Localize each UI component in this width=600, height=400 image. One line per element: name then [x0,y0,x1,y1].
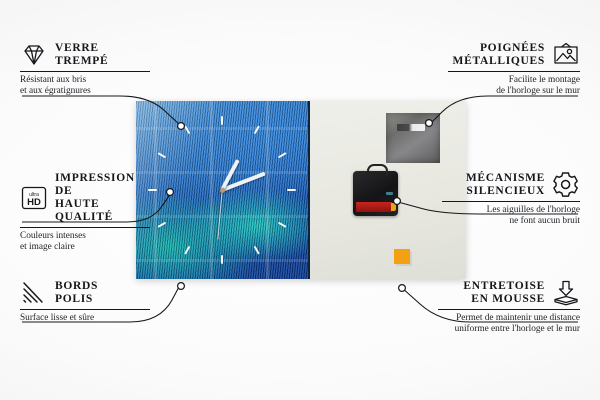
feature-divider [20,227,150,228]
hanging-frame-icon [552,42,580,68]
feature-callout-verre-trempe: VERRE TREMPÉ Résistant aux bris et aux é… [20,42,150,97]
feature-subtitle: Facilite le montage de l'horloge sur le … [448,75,580,97]
ultra-hd-icon: ultra HD [20,185,48,211]
feature-subtitle: Résistant aux bris et aux égratignures [20,75,150,97]
feature-head: BORDS POLIS [20,280,150,306]
clock-tick [221,255,223,264]
feature-head: MÉCANISME SILENCIEUX [442,172,580,198]
clock-tick [221,116,223,125]
feature-head: ENTRETOISE EN MOUSSE [438,280,580,306]
mechanism-loop [367,164,388,176]
feature-divider [20,309,150,310]
infographic-stage: VERRE TREMPÉ Résistant aux bris et aux é… [0,0,600,400]
feature-head: POIGNÉES MÉTALLIQUES [448,42,580,68]
feature-divider [442,201,580,202]
feature-title: ENTRETOISE EN MOUSSE [463,280,545,306]
clock-tick [287,189,296,191]
clock-front-panel [136,101,308,279]
feature-callout-entretoise: ENTRETOISE EN MOUSSE Permet de maintenir… [438,280,580,335]
feature-callout-mecanisme: MÉCANISME SILENCIEUX Les aiguilles de l'… [442,172,580,227]
feature-head: VERRE TREMPÉ [20,42,150,68]
wire-dot-entretoise [399,285,406,292]
wire-dot-bords-polis [178,283,185,290]
feature-divider [448,71,580,72]
feature-callout-poignees: POIGNÉES MÉTALLIQUES Facilite le montage… [448,42,580,97]
foam-spacer-part [394,249,410,264]
clock-hand-cap [220,188,225,193]
gear-icon [552,172,580,198]
feature-divider [438,309,580,310]
mechanism-detail [386,192,393,195]
battery-tip [391,203,396,211]
metal-hanger-part [386,113,440,163]
product-image [136,101,466,279]
feature-subtitle: Surface lisse et sûre [20,313,150,324]
feature-head: ultra HD IMPRESSION DE HAUTE QUALITÉ [20,172,150,224]
foam-spacer-icon [552,280,580,306]
feature-title: MÉCANISME SILENCIEUX [466,172,545,198]
feature-callout-bords-polis: BORDS POLIS Surface lisse et sûre [20,280,150,324]
svg-text:HD: HD [27,197,41,208]
feature-title: BORDS POLIS [55,280,98,306]
feature-title: IMPRESSION DE HAUTE QUALITÉ [55,172,150,224]
feature-subtitle: Les aiguilles de l'horloge ne font aucun… [442,205,580,227]
diamond-icon [20,43,48,67]
polished-edge-icon [20,280,48,306]
clock-mechanism-part [353,171,398,216]
feature-subtitle: Permet de maintenir une distance uniform… [438,313,580,335]
feature-divider [20,71,150,72]
feature-callout-impression: ultra HD IMPRESSION DE HAUTE QUALITÉ Cou… [20,172,150,253]
feature-title: POIGNÉES MÉTALLIQUES [453,42,545,68]
battery-part [356,202,392,212]
feature-title: VERRE TREMPÉ [55,42,108,68]
hanger-slot [397,124,425,131]
feature-subtitle: Couleurs intenses et image claire [20,231,150,253]
